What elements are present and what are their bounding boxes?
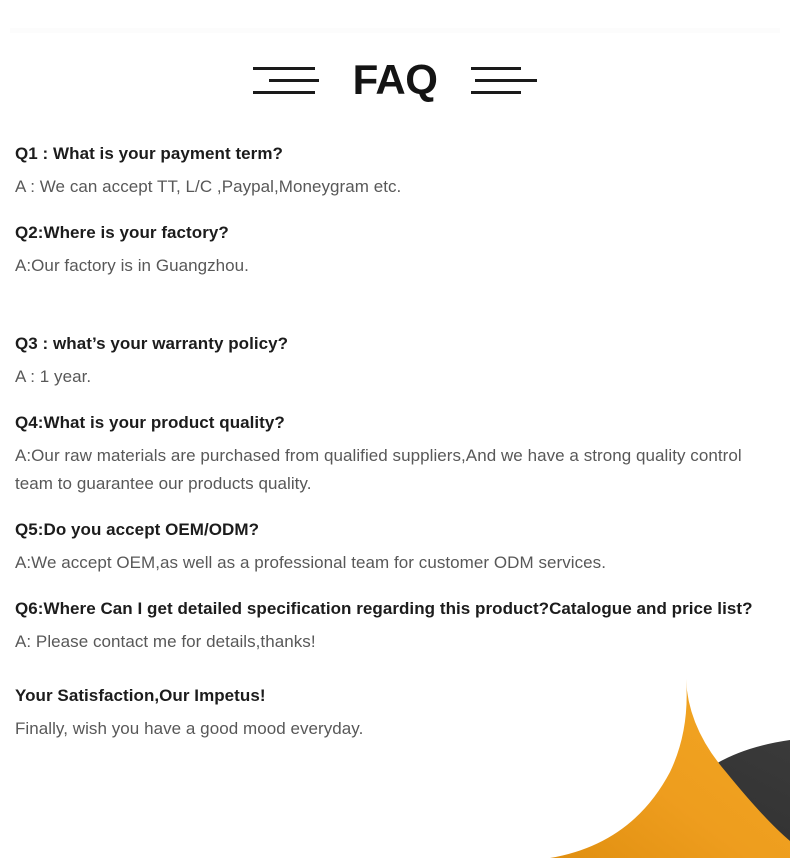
faq-header: FAQ: [0, 48, 790, 112]
faq-item: Q5:Do you accept OEM/ODM? A:We accept OE…: [15, 519, 775, 576]
faq-question: Q2:Where is your factory?: [15, 222, 775, 245]
faq-item: Q1 : What is your payment term? A : We c…: [15, 143, 775, 200]
faq-item: Q6:Where Can I get detailed specificatio…: [15, 598, 775, 655]
faq-question: Q6:Where Can I get detailed specificatio…: [15, 598, 775, 621]
closing-headline: Your Satisfaction,Our Impetus!: [15, 685, 775, 708]
faq-answer: A:Our raw materials are purchased from q…: [15, 442, 775, 497]
page-title: FAQ: [353, 59, 438, 101]
faq-item: Q3 : what’s your warranty policy? A : 1 …: [15, 333, 775, 390]
decoration-line: [475, 79, 537, 82]
faq-item: Q4:What is your product quality? A:Our r…: [15, 412, 775, 497]
decoration-line: [253, 67, 315, 70]
curl-backing-sheet: [555, 740, 790, 858]
faq-item: Q2:Where is your factory? A:Our factory …: [15, 222, 775, 279]
decoration-line: [253, 91, 315, 94]
top-banner-residual-strip: [10, 28, 780, 33]
faq-answer: A:We accept OEM,as well as a professiona…: [15, 549, 775, 577]
faq-answer: A : We can accept TT, L/C ,Paypal,Moneyg…: [15, 173, 775, 201]
three-lines-decoration-left-icon: [253, 67, 319, 94]
faq-answer: A : 1 year.: [15, 363, 775, 391]
decoration-line: [471, 91, 521, 94]
faq-page: FAQ Q1 : What is your payment term? A : …: [0, 0, 790, 858]
three-lines-decoration-right-icon: [471, 67, 537, 94]
closing-subline: Finally, wish you have a good mood every…: [15, 715, 775, 743]
decoration-line: [269, 79, 319, 82]
faq-question: Q4:What is your product quality?: [15, 412, 775, 435]
faq-question: Q1 : What is your payment term?: [15, 143, 775, 166]
faq-question: Q5:Do you accept OEM/ODM?: [15, 519, 775, 542]
closing-block: Your Satisfaction,Our Impetus! Finally, …: [15, 685, 775, 742]
faq-answer: A: Please contact me for details,thanks!: [15, 628, 775, 656]
faq-question: Q3 : what’s your warranty policy?: [15, 333, 775, 356]
faq-answer: A:Our factory is in Guangzhou.: [15, 252, 775, 280]
faq-list: Q1 : What is your payment term? A : We c…: [15, 143, 775, 743]
decoration-line: [471, 67, 521, 70]
